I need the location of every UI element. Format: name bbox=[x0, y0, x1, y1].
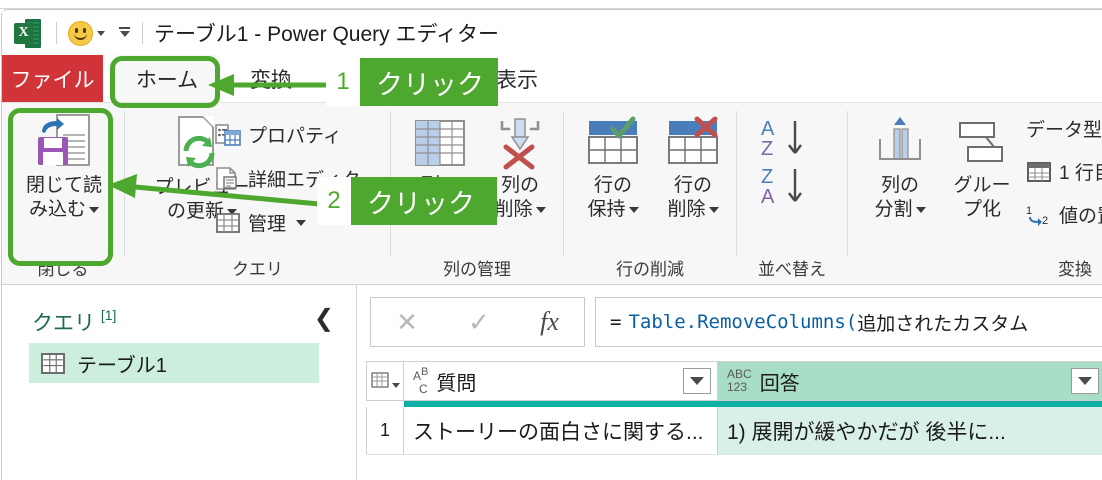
svg-text:Z: Z bbox=[761, 138, 773, 160]
ribbon-group-transform-label: 変換 bbox=[1058, 255, 1092, 280]
ribbon-group-transform: 列の 分割 グルー プ化 データ型: bbox=[848, 103, 1102, 284]
column-type-tag-abc123: ABC123 bbox=[727, 368, 752, 393]
table-icon bbox=[41, 353, 65, 374]
ribbon-group-sort: A Z Z A 並べ替え bbox=[737, 103, 847, 284]
tab-file[interactable]: ファイル bbox=[2, 55, 103, 102]
ribbon-group-reduce-rows-label: 行の削減 bbox=[564, 255, 736, 280]
ribbon-group-query-label: クエリ bbox=[125, 255, 390, 280]
select-all-table-icon[interactable] bbox=[366, 361, 404, 401]
fx-icon[interactable]: fx bbox=[540, 307, 559, 337]
remove-rows-icon bbox=[665, 115, 721, 171]
data-type-button[interactable]: データ型: bbox=[1026, 115, 1102, 142]
grid-column-title-answer: 回答 bbox=[760, 367, 1071, 396]
queries-heading-text: クエリ bbox=[32, 312, 95, 335]
svg-text:A: A bbox=[761, 118, 775, 140]
query-list-item-label: テーブル1 bbox=[77, 349, 167, 378]
replace-values-label: 値の置 bbox=[1059, 201, 1102, 228]
grid-header-row: ABC 質問 ABC123 回答 bbox=[366, 361, 1102, 401]
grid-column-header-answer[interactable]: ABC123 回答 bbox=[718, 361, 1102, 401]
close-and-load-dropdown-caret-icon[interactable] bbox=[89, 207, 99, 213]
data-preview-grid: ABC 質問 ABC123 回答 bbox=[366, 361, 1102, 480]
query-list-item-table1[interactable]: テーブル1 bbox=[29, 343, 319, 383]
split-column-dropdown-caret-icon[interactable] bbox=[916, 207, 926, 213]
manage-table-icon bbox=[215, 211, 241, 235]
sort-descending-icon: Z A bbox=[761, 165, 823, 209]
sort-ascending-icon: A Z bbox=[761, 117, 823, 161]
keep-rows-button[interactable]: 行の 保持 bbox=[576, 115, 650, 223]
manage-button[interactable]: 管理 bbox=[215, 209, 306, 236]
properties-icon bbox=[215, 123, 241, 147]
remove-rows-button[interactable]: 行の 削除 bbox=[656, 115, 730, 223]
smiley-face-icon[interactable] bbox=[68, 21, 93, 46]
formula-bar-buttons: ✕ ✓ fx bbox=[370, 297, 585, 347]
split-column-button[interactable]: 列の 分割 bbox=[862, 115, 938, 223]
annotation-2: 2 クリック bbox=[317, 177, 497, 225]
use-first-row-as-headers-button[interactable]: 1 行目 bbox=[1026, 158, 1102, 185]
grid-column-header-question[interactable]: ABC 質問 bbox=[404, 361, 718, 401]
check-icon[interactable]: ✓ bbox=[468, 307, 490, 338]
tab-home[interactable]: ホーム bbox=[115, 55, 219, 102]
column-type-tag-abc: ABC bbox=[413, 367, 428, 395]
formula-and-grid-pane: ✕ ✓ fx =Table.RemoveColumns(追加されたカスタム bbox=[358, 285, 1102, 480]
keep-rows-label-2: 保持 bbox=[587, 199, 625, 220]
svg-text:A: A bbox=[761, 186, 775, 208]
queries-pane: クエリ [1] ❮ テーブル1 bbox=[2, 285, 357, 480]
close-and-load-label-2: み込む bbox=[29, 199, 86, 220]
close-and-load-label-1: 閉じて読 bbox=[26, 174, 102, 198]
split-column-label-2: 分割 bbox=[874, 199, 912, 220]
queries-count: [1] bbox=[101, 307, 117, 323]
cut-off-top-strip: ▪▪ ▪▪▪ ▪ ▪▪ ▪▪ ▪ ▪▪▪ ▪ ▪▪ ▪▪ ▪ ▪▪▪ ▪ bbox=[0, 0, 1102, 9]
annotation-1-text: クリック bbox=[360, 63, 500, 102]
quick-access-toolbar-caret-icon[interactable] bbox=[119, 26, 131, 40]
advanced-editor-icon bbox=[215, 167, 241, 191]
formula-jp-text: 追加されたカスタム bbox=[857, 309, 1028, 336]
remove-columns-icon bbox=[492, 115, 548, 171]
sort-descending-button[interactable]: Z A bbox=[761, 165, 823, 214]
manage-label: 管理 bbox=[248, 209, 286, 236]
row-number: 1 bbox=[366, 407, 404, 455]
cancel-x-icon[interactable]: ✕ bbox=[396, 307, 418, 338]
annotation-2-number: 2 bbox=[317, 177, 351, 225]
tab-transform[interactable]: 変換 bbox=[234, 55, 308, 102]
svg-text:Z: Z bbox=[761, 166, 773, 188]
ribbon-body: 閉じて読 み込む 閉じる プレビュー bbox=[2, 103, 1102, 285]
split-column-label-1: 列の bbox=[874, 174, 925, 198]
replace-values-button[interactable]: 1 2 値の置 bbox=[1026, 201, 1102, 228]
remove-columns-label-1: 列の bbox=[494, 174, 545, 198]
editor-lower-area: クエリ [1] ❮ テーブル1 ✕ ✓ fx =Table.RemoveColu bbox=[2, 285, 1102, 480]
ribbon-group-reduce-rows: 行の 保持 行の 削除 行の削減 bbox=[564, 103, 736, 284]
remove-columns-dropdown-caret-icon[interactable] bbox=[536, 207, 546, 213]
grid-column-title-question: 質問 bbox=[436, 367, 683, 396]
group-by-label-1: グルー bbox=[953, 174, 1010, 198]
svg-text:1: 1 bbox=[1026, 205, 1032, 217]
title-bar: X テーブル1 - Power Query エディター bbox=[2, 11, 1102, 55]
annotation-2-text: クリック bbox=[351, 182, 491, 221]
annotation-1-number: 1 bbox=[326, 58, 360, 106]
ribbon-group-close-label: 閉じる bbox=[2, 255, 124, 280]
title-separator-2 bbox=[142, 22, 143, 44]
group-by-button[interactable]: グルー プ化 bbox=[944, 115, 1020, 223]
excel-logo-letter: X bbox=[14, 23, 33, 44]
properties-label: プロパティ bbox=[248, 121, 342, 148]
properties-button[interactable]: プロパティ bbox=[215, 121, 342, 148]
first-row-header-icon bbox=[1026, 160, 1052, 184]
remove-rows-label-2: 削除 bbox=[667, 199, 705, 220]
manage-dropdown-caret-icon[interactable] bbox=[296, 220, 306, 226]
replace-values-icon: 1 2 bbox=[1026, 203, 1052, 227]
remove-columns-label-2: 削除 bbox=[494, 199, 532, 220]
ribbon-group-sort-label: 並べ替え bbox=[737, 255, 847, 280]
power-query-editor-window: ▪▪ ▪▪▪ ▪ ▪▪ ▪▪ ▪ ▪▪▪ ▪ ▪▪ ▪▪ ▪ ▪▪▪ ▪ X テ… bbox=[0, 0, 1102, 480]
group-by-icon bbox=[952, 115, 1012, 171]
choose-columns-icon bbox=[412, 115, 468, 171]
ribbon-group-close: 閉じて読 み込む 閉じる bbox=[2, 103, 124, 284]
data-type-label: データ型: bbox=[1026, 115, 1102, 142]
close-and-load-button[interactable]: 閉じて読 み込む bbox=[19, 113, 109, 223]
title-separator-1 bbox=[56, 22, 57, 44]
cell-question[interactable]: ストーリーの面白さに関する... bbox=[404, 407, 718, 455]
keep-rows-icon bbox=[585, 115, 641, 171]
cut-off-ghost-text: ▪▪ ▪▪▪ ▪ ▪▪ ▪▪ ▪ ▪▪▪ ▪ ▪▪ ▪▪ ▪ ▪▪▪ ▪ bbox=[6, 0, 664, 4]
formula-code: Table.RemoveColumns( bbox=[628, 311, 857, 333]
smiley-dropdown-caret-icon[interactable] bbox=[97, 31, 105, 36]
ribbon-tab-strip: ファイル ホーム 変換 列の追加 表示 bbox=[2, 55, 1102, 103]
arrow-right-icon bbox=[41, 118, 65, 135]
close-and-load-icon bbox=[36, 113, 92, 171]
keep-rows-label-1: 行の bbox=[587, 174, 638, 198]
window-title: テーブル1 - Power Query エディター bbox=[154, 18, 499, 48]
formula-equals: = bbox=[610, 311, 621, 333]
queries-pane-heading: クエリ [1] bbox=[32, 307, 116, 337]
cell-answer[interactable]: 1) 展開が緩やかだが 後半に... bbox=[718, 407, 1102, 455]
group-by-label-2: プ化 bbox=[953, 198, 1010, 222]
remove-rows-label-1: 行の bbox=[667, 174, 718, 198]
annotation-1: 1 クリック bbox=[326, 58, 498, 106]
filter-dropdown-icon-question[interactable] bbox=[683, 368, 711, 394]
formula-input[interactable]: =Table.RemoveColumns(追加されたカスタム bbox=[595, 297, 1102, 347]
excel-logo-icon: X bbox=[14, 19, 41, 48]
keep-rows-dropdown-caret-icon[interactable] bbox=[629, 207, 639, 213]
use-first-row-as-headers-label: 1 行目 bbox=[1059, 158, 1102, 185]
filter-dropdown-icon-answer[interactable] bbox=[1071, 368, 1099, 394]
svg-text:2: 2 bbox=[1042, 215, 1048, 227]
ribbon-group-manage-columns-label: 列の管理 bbox=[391, 255, 563, 280]
chevron-left-icon[interactable]: ❮ bbox=[314, 307, 334, 331]
split-column-icon bbox=[870, 115, 930, 171]
remove-rows-dropdown-caret-icon[interactable] bbox=[709, 207, 719, 213]
sort-ascending-button[interactable]: A Z bbox=[761, 117, 823, 166]
